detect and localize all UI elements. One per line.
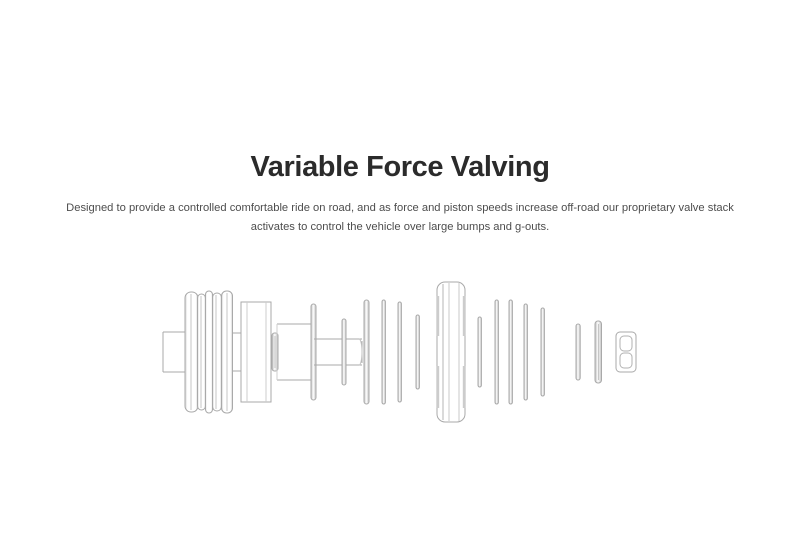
piston-body-part — [437, 282, 465, 422]
lock-nut-part — [616, 332, 636, 372]
page-root: Variable Force Valving Designed to provi… — [0, 0, 800, 534]
exploded-valve-stack-diagram — [0, 262, 800, 442]
shim-8-part — [541, 308, 544, 396]
heading-block: Variable Force Valving Designed to provi… — [0, 148, 800, 237]
washer-plate-mid-part — [342, 319, 346, 385]
washer-plate-tall-part — [311, 304, 316, 400]
shaft-collar-part — [277, 324, 313, 380]
page-title: Variable Force Valving — [0, 148, 800, 186]
shim-9-part — [576, 324, 580, 380]
diagram-container — [0, 262, 800, 442]
page-subtitle: Designed to provide a controlled comfort… — [55, 199, 745, 237]
shaft-stub-left-part — [163, 332, 188, 372]
shaft-nose-part — [346, 339, 362, 365]
seal-head-stack-part — [185, 291, 233, 413]
shim-2-part — [398, 302, 401, 402]
washer-plate-tall-2-part — [364, 300, 369, 404]
shim-3-part — [416, 315, 419, 389]
shim-1-part — [382, 300, 385, 404]
shim-6-part — [509, 300, 512, 404]
shim-10-part — [595, 321, 602, 383]
shim-4-part — [478, 317, 481, 387]
shim-5-part — [495, 300, 498, 404]
shim-7-part — [524, 304, 527, 400]
shaft-segment-2-part — [314, 339, 346, 365]
spacer-block-large-part — [241, 302, 271, 402]
